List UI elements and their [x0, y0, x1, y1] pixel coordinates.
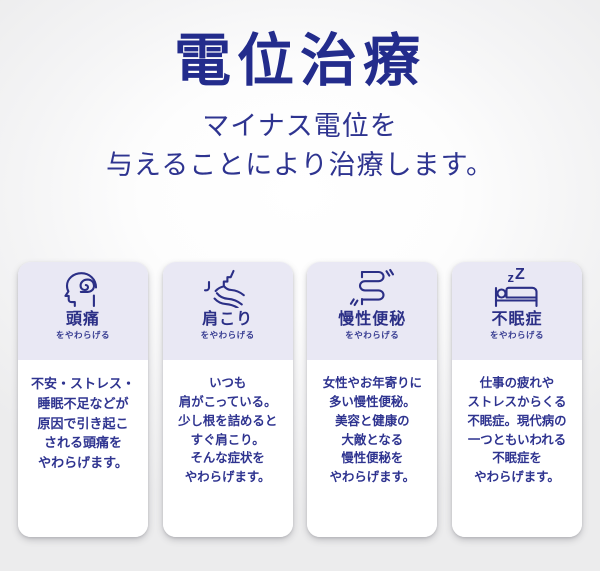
card-title: 不眠症 — [491, 311, 542, 329]
subtitle-line-2: 与えることにより治療します。 — [0, 146, 600, 185]
shoulder-neck-icon — [201, 266, 255, 310]
symptom-card-stiff-shoulder[interactable]: 肩こり をやわらげる いつも 肩がこっている。 少し根を詰めると すぐ肩こり。 … — [163, 262, 293, 537]
bed-sleep-icon: z Z — [489, 266, 545, 310]
body-line: 女性やお年寄りに — [323, 374, 422, 393]
body-line: 一つともいわれる — [468, 431, 566, 450]
body-line: やわらげます。 — [330, 468, 416, 487]
subtitle-line-1: マイナス電位を — [0, 107, 600, 146]
card-subtitle: をやわらげる — [201, 331, 255, 340]
body-line: 肩がこっている。 — [179, 393, 277, 412]
body-line: 原因で引き起こ — [37, 414, 128, 434]
card-title: 頭痛 — [66, 311, 100, 329]
body-line: 仕事の疲れや — [480, 374, 554, 393]
symptom-card-chronic-constipation[interactable]: 慢性便秘 をやわらげる 女性やお年寄りに 多い慢性便秘。 美容と健康の 大敵とな… — [307, 262, 437, 537]
card-body: 不安・ストレス・ 睡眠不足などが 原因で引き起こ される頭痛を やわらげます。 — [18, 360, 148, 537]
symptom-card-insomnia[interactable]: z Z 不眠症 をやわらげる 仕事の疲れや ストレスからくる 不眠症。現代病の … — [452, 262, 582, 537]
symptom-card-headache[interactable]: 頭痛 をやわらげる 不安・ストレス・ 睡眠不足などが 原因で引き起こ される頭痛… — [18, 262, 148, 537]
card-header: 頭痛 をやわらげる — [18, 262, 148, 360]
body-line: 大敵となる — [342, 431, 404, 450]
card-body: 女性やお年寄りに 多い慢性便秘。 美容と健康の 大敵となる 慢性便秘を やわらげ… — [307, 360, 437, 537]
body-line: そんな症状を — [190, 449, 264, 468]
body-line: される頭痛を — [44, 433, 122, 453]
body-line: いつも — [209, 374, 246, 393]
card-header: 肩こり をやわらげる — [163, 262, 293, 360]
body-line: 慢性便秘を — [341, 449, 403, 468]
card-subtitle: をやわらげる — [56, 331, 110, 340]
body-line: 不眠症。現代病の — [467, 412, 566, 431]
card-header: z Z 不眠症 をやわらげる — [452, 262, 582, 360]
body-line: 睡眠不足などが — [37, 394, 128, 414]
body-line: 不眠症を — [492, 449, 542, 468]
body-line: すぐ肩こり。 — [191, 431, 265, 450]
card-subtitle: をやわらげる — [490, 331, 544, 340]
body-line: 少し根を詰めると — [178, 412, 277, 431]
card-title: 肩こり — [202, 311, 253, 329]
body-line: ストレスからくる — [468, 393, 567, 412]
card-header: 慢性便秘 をやわらげる — [307, 262, 437, 360]
svg-text:Z: Z — [515, 266, 525, 283]
poster-root: 電位治療 マイナス電位を 与えることにより治療します。 頭痛 をやわらげる — [0, 0, 600, 571]
card-subtitle: をやわらげる — [345, 331, 399, 340]
body-line: やわらげます。 — [474, 468, 560, 487]
header-block: 電位治療 マイナス電位を 与えることにより治療します。 — [0, 0, 600, 185]
head-brain-icon — [60, 266, 106, 310]
card-body: 仕事の疲れや ストレスからくる 不眠症。現代病の 一つともいわれる 不眠症を や… — [452, 360, 582, 537]
body-line: 美容と健康の — [335, 412, 409, 431]
symptom-cards-row: 頭痛 をやわらげる 不安・ストレス・ 睡眠不足などが 原因で引き起こ される頭痛… — [18, 262, 582, 537]
card-title: 慢性便秘 — [338, 311, 406, 329]
svg-text:z: z — [507, 270, 514, 285]
card-body: いつも 肩がこっている。 少し根を詰めると すぐ肩こり。 そんな症状を やわらげ… — [163, 360, 293, 537]
body-line: 不安・ストレス・ — [31, 374, 135, 394]
body-line: やわらげます。 — [185, 468, 271, 487]
body-line: やわらげます。 — [38, 453, 128, 473]
intestine-icon — [349, 266, 395, 310]
page-subtitle: マイナス電位を 与えることにより治療します。 — [0, 92, 600, 185]
body-line: 多い慢性便秘。 — [329, 393, 416, 412]
page-title: 電位治療 — [0, 0, 600, 92]
